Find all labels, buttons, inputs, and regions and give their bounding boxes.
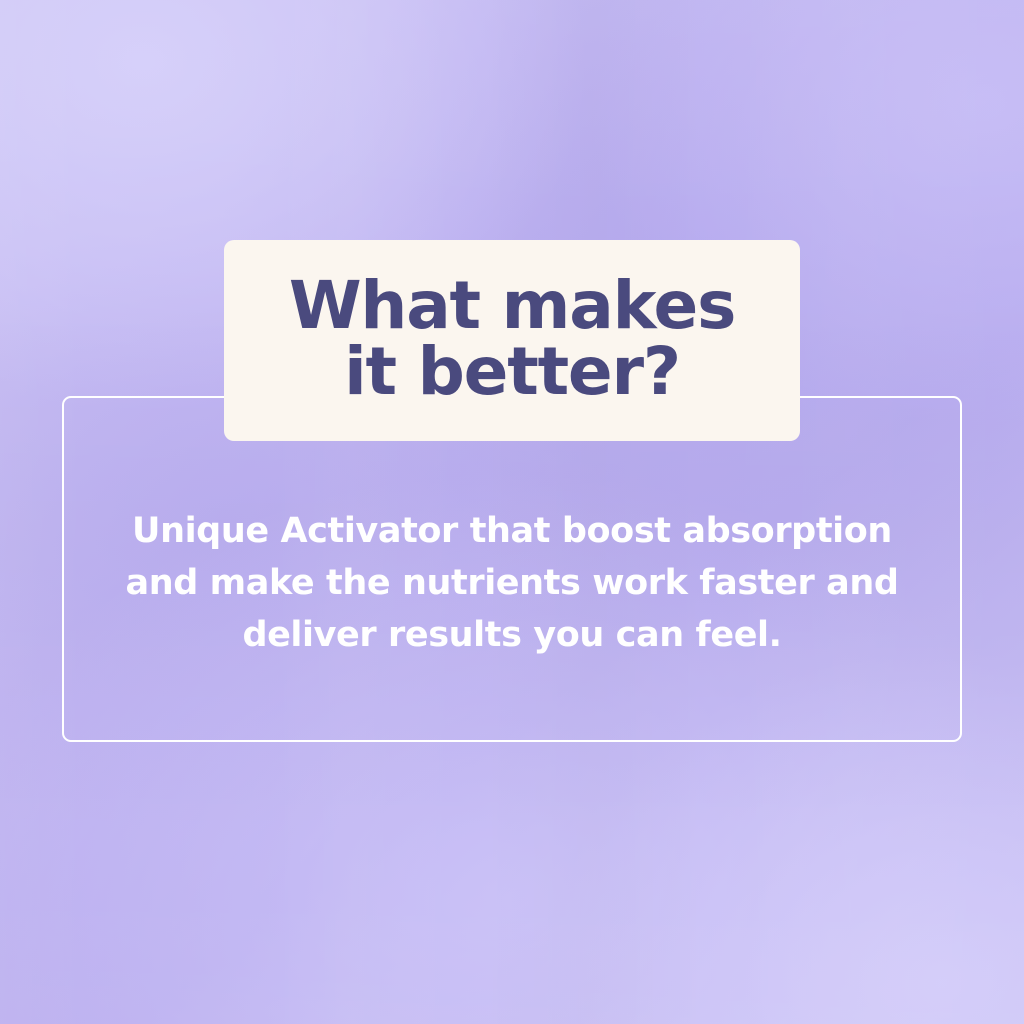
heading-card: What makes it better? <box>224 240 800 441</box>
body-text-container: Unique Activator that boost absorption a… <box>92 470 932 695</box>
poster-canvas: What makes it better? Unique Activator t… <box>0 0 1024 1024</box>
body-description: Unique Activator that boost absorption a… <box>92 505 932 661</box>
page-title: What makes it better? <box>289 273 735 409</box>
